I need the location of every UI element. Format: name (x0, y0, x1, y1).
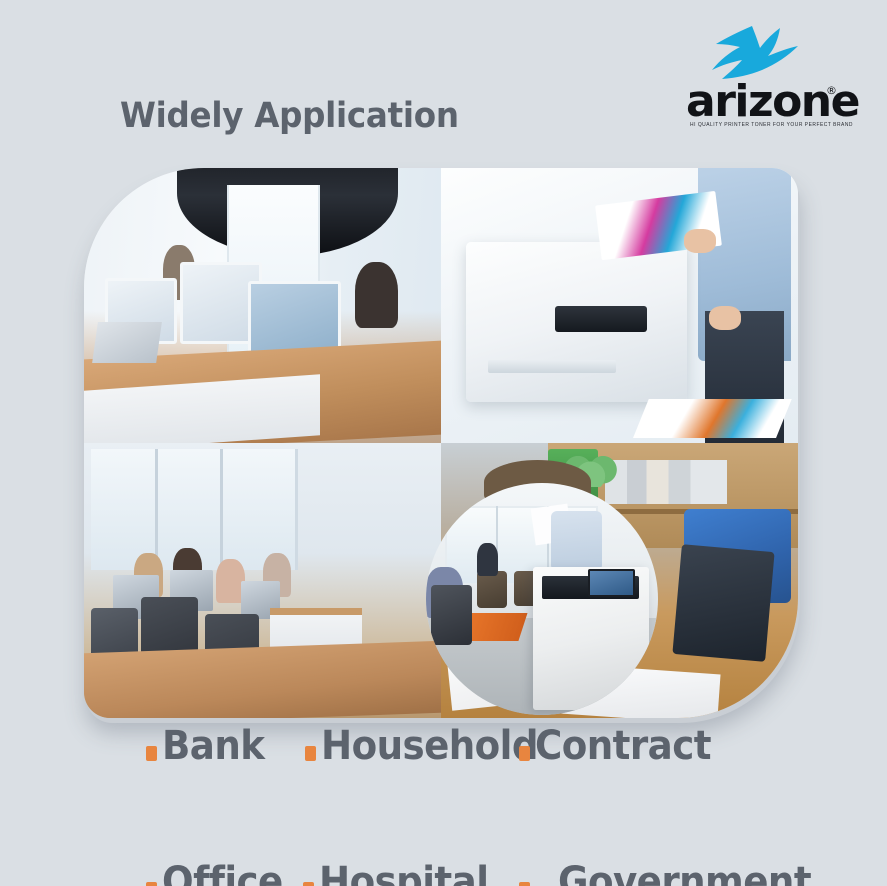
page-title: Widely Application (120, 96, 459, 136)
application-label: Government (558, 862, 811, 886)
application-label: Hospital (319, 862, 488, 886)
application-item-household: Household (305, 726, 554, 766)
bullet-icon (519, 882, 530, 886)
window-mullion (220, 449, 223, 570)
open-plan-office-photo (84, 443, 441, 718)
tablet-device (672, 544, 774, 662)
colour-printout (633, 399, 791, 438)
bullet-icon (303, 882, 314, 886)
hand (684, 229, 716, 254)
bullet-icon (519, 746, 530, 761)
application-label: Contract (535, 726, 711, 766)
brand-logo: arizone ® HI QUALITY PRINTER TONER FOR Y… (686, 22, 846, 134)
printer-user-photo (441, 168, 798, 443)
laptop (92, 322, 162, 363)
printer-control-panel (555, 306, 648, 332)
application-row-2: Office Hospital Government (0, 794, 887, 862)
registered-trademark-icon: ® (826, 84, 837, 97)
person (355, 262, 398, 328)
application-item-contract: Contract (519, 726, 724, 766)
office-desks-photo (84, 168, 441, 443)
application-item-government: Government (519, 862, 830, 886)
application-item-hospital: Hospital (303, 862, 501, 886)
bird-icon (700, 22, 804, 84)
office-chair (431, 585, 473, 645)
printer-touchscreen (588, 569, 634, 597)
bullet-icon (305, 746, 316, 761)
meeting-room-mfp-photo (426, 483, 658, 715)
poster-canvas: arizone ® HI QUALITY PRINTER TONER FOR Y… (0, 0, 887, 886)
bullet-icon (146, 746, 157, 761)
meeting-chair (477, 571, 507, 608)
wooden-desk (84, 640, 441, 718)
bullet-icon (146, 882, 157, 886)
books (605, 460, 726, 504)
person (477, 543, 498, 575)
brand-wordmark: arizone (686, 80, 846, 124)
brand-tagline: HI QUALITY PRINTER TONER FOR YOUR PERFEC… (690, 122, 841, 128)
laser-printer (466, 242, 687, 402)
person-arm (551, 511, 602, 571)
printer-paper-tray (488, 360, 616, 373)
application-label: Household (321, 726, 538, 766)
application-list: Bank Household Contract Office Hospital (0, 726, 887, 862)
application-item-office: Office (146, 862, 292, 886)
application-row-1: Bank Household Contract (0, 726, 887, 794)
application-collage (84, 168, 798, 718)
window-mullion (155, 449, 158, 570)
application-item-bank: Bank (146, 726, 272, 766)
application-label: Bank (162, 726, 264, 766)
hand (709, 306, 741, 331)
application-label: Office (162, 862, 283, 886)
